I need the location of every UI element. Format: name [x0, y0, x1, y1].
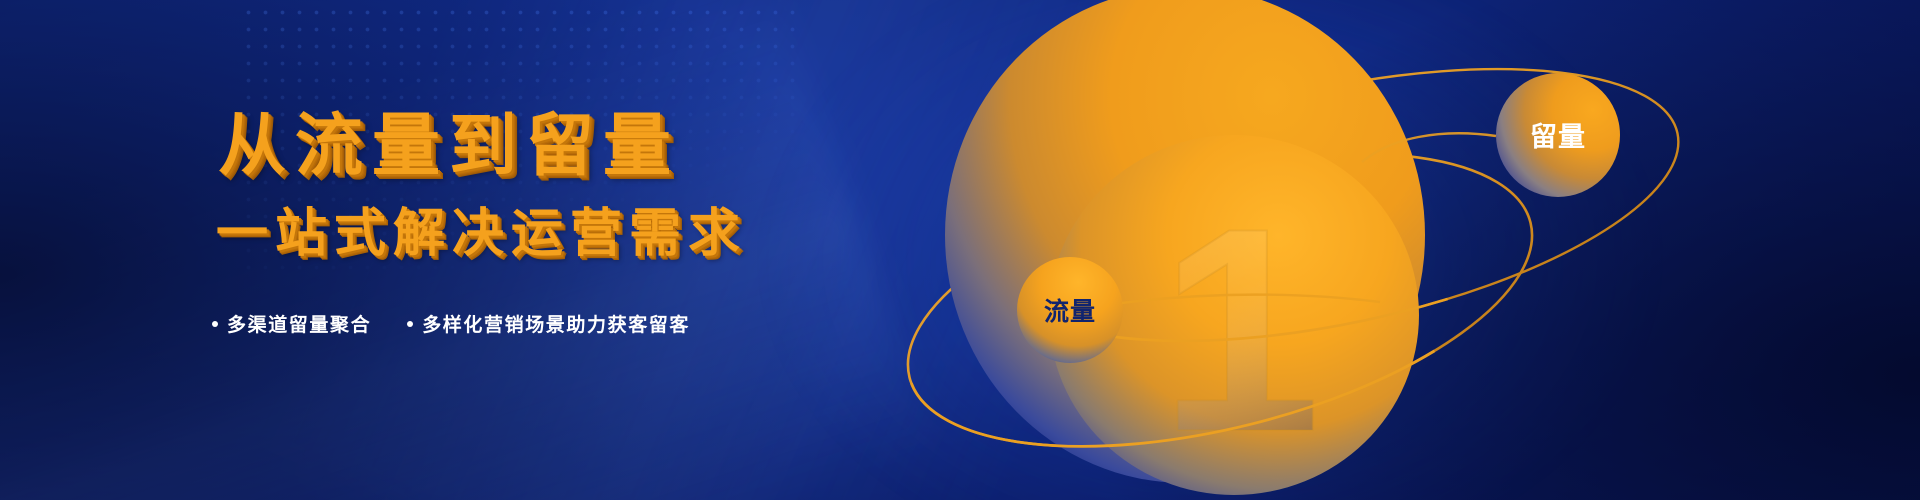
bullet-label: 多渠道留量聚合 [227, 310, 371, 337]
sphere-retention: 留量 [1496, 73, 1620, 197]
sphere-traffic-label: 流量 [1044, 298, 1096, 326]
list-item: 多渠道留量聚合 [212, 310, 371, 337]
sphere-illustration: 1 流量 留量 [740, 0, 1920, 500]
bullet-label: 多样化营销场景助力获客留客 [422, 310, 690, 337]
sphere-retention-label: 留量 [1530, 122, 1586, 152]
headline: 从流量到留量 [218, 112, 680, 180]
sphere-traffic: 流量 [1017, 257, 1123, 363]
list-item: 多样化营销场景助力获客留客 [407, 310, 690, 337]
bullet-dot-icon [407, 321, 413, 327]
bullet-dot-icon [212, 321, 218, 327]
promo-banner: 1 流量 留量 [0, 0, 1920, 500]
subheadline: 一站式解决运营需求 [216, 208, 747, 260]
feature-bullet-list: 多渠道留量聚合 多样化营销场景助力获客留客 [212, 310, 690, 337]
numeral-one: 1 [1159, 168, 1320, 492]
text-content: 从流量到留量 一站式解决运营需求 多渠道留量聚合 多样化营销场景助力获客留客 [0, 0, 860, 500]
